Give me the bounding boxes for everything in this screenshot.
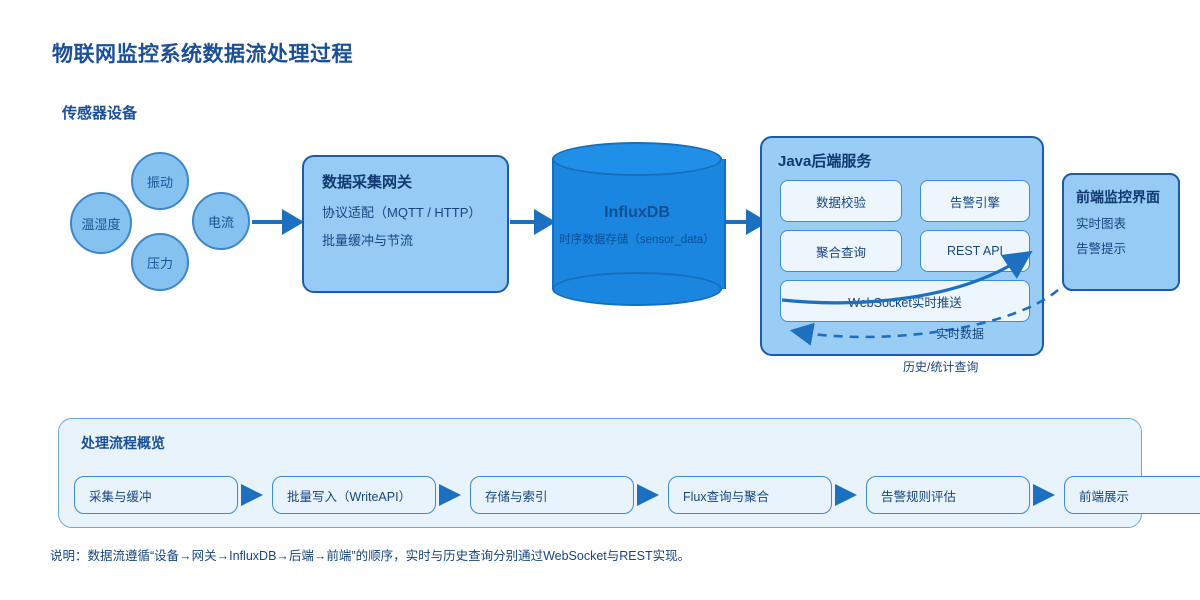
database-subtitle: 时序数据存储（sensor_data）: [552, 231, 722, 247]
step-label: Flux查询与聚合: [683, 486, 769, 505]
overview-step-6[interactable]: 前端展示: [1064, 476, 1200, 514]
sensor-section-label: 传感器设备: [62, 102, 137, 123]
overview-step-4[interactable]: Flux查询与聚合: [668, 476, 832, 514]
gateway-box[interactable]: 数据采集网关 协议适配（MQTT / HTTP） 批量缓冲与节流: [302, 155, 509, 293]
overview-step-2[interactable]: 批量写入（WriteAPI）: [272, 476, 436, 514]
sensor-circle-temp-humidity[interactable]: 温湿度: [70, 192, 132, 254]
module-label: WebSocket实时推送: [848, 292, 962, 311]
sensor-label: 振动: [147, 172, 173, 191]
gateway-line-buffer: 批量缓冲与节流: [322, 230, 489, 249]
cylinder-text: InfluxDB 时序数据存储（sensor_data）: [552, 204, 722, 247]
overview-step-3[interactable]: 存储与索引: [470, 476, 634, 514]
sensor-label: 压力: [147, 253, 173, 272]
overview-title: 处理流程概览: [81, 433, 165, 453]
backend-container[interactable]: Java后端服务 数据校验 告警引擎 聚合查询 REST API WebSock…: [760, 136, 1044, 356]
sensor-label: 温湿度: [81, 214, 120, 233]
flow-label-realtime: 实时数据: [936, 325, 984, 342]
step-label: 批量写入（WriteAPI）: [287, 486, 411, 505]
arrow-gateway-to-database: [510, 209, 556, 235]
sensor-circle-current[interactable]: 电流: [192, 192, 250, 250]
step-label: 告警规则评估: [881, 486, 956, 505]
gateway-line-protocol: 协议适配（MQTT / HTTP）: [322, 202, 489, 221]
module-label: REST API: [947, 244, 1003, 258]
overview-step-1[interactable]: 采集与缓冲: [74, 476, 238, 514]
module-label: 数据校验: [816, 192, 866, 211]
page-title: 物联网监控系统数据流处理过程: [52, 38, 353, 68]
overview-arrow-5: [1033, 484, 1055, 506]
flow-label-history: 历史/统计查询: [903, 358, 978, 375]
footnote: 说明：数据流遵循“设备→网关→InfluxDB→后端→前端”的顺序，实时与历史查…: [50, 545, 690, 564]
frontend-line-alerts: 告警提示: [1076, 238, 1166, 257]
module-label: 聚合查询: [816, 242, 866, 261]
step-label: 存储与索引: [485, 486, 548, 505]
cylinder-top: [552, 142, 722, 176]
sensor-circle-vibration[interactable]: 振动: [131, 152, 189, 210]
backend-module-aggregate-query[interactable]: 聚合查询: [780, 230, 902, 272]
overview-arrow-2: [439, 484, 461, 506]
step-label: 前端展示: [1079, 486, 1129, 505]
backend-title: Java后端服务: [778, 150, 871, 171]
backend-module-alert-engine[interactable]: 告警引擎: [920, 180, 1030, 222]
frontend-line-charts: 实时图表: [1076, 213, 1166, 232]
step-label: 采集与缓冲: [89, 486, 152, 505]
overview-step-5[interactable]: 告警规则评估: [866, 476, 1030, 514]
cylinder-bottom: [552, 272, 722, 306]
gateway-title: 数据采集网关: [322, 171, 489, 192]
frontend-box[interactable]: 前端监控界面 实时图表 告警提示: [1062, 173, 1180, 291]
influxdb-cylinder[interactable]: InfluxDB 时序数据存储（sensor_data）: [552, 142, 722, 307]
module-label: 告警引擎: [950, 192, 1000, 211]
overview-arrow-4: [835, 484, 857, 506]
database-name: InfluxDB: [552, 204, 722, 222]
overview-arrow-1: [241, 484, 263, 506]
sensor-circle-pressure[interactable]: 压力: [131, 233, 189, 291]
overview-arrow-3: [637, 484, 659, 506]
backend-module-websocket-push[interactable]: WebSocket实时推送: [780, 280, 1030, 322]
frontend-title: 前端监控界面: [1076, 187, 1166, 207]
sensor-label: 电流: [208, 212, 234, 231]
backend-module-rest-api[interactable]: REST API: [920, 230, 1030, 272]
backend-module-data-validation[interactable]: 数据校验: [780, 180, 902, 222]
arrow-sensors-to-gateway: [252, 209, 304, 235]
diagram-canvas: 物联网监控系统数据流处理过程 传感器设备 温湿度 振动 压力 电流 数据采集网关…: [0, 0, 1200, 600]
